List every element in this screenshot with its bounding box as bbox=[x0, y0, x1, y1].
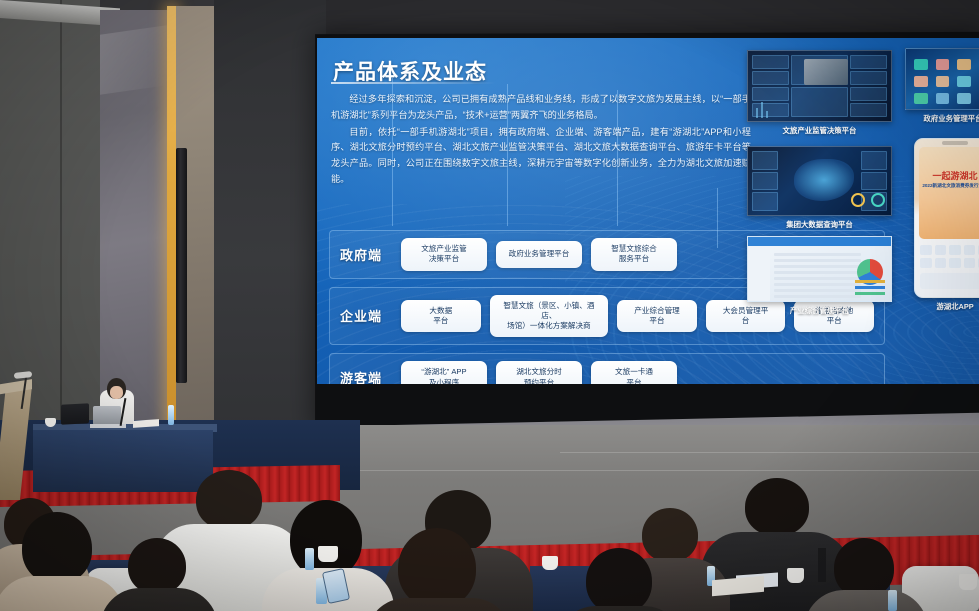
conference-room-photo: 产品体系及业态 经过多年探索和沉淀，公司已拥有成熟产品线和业务线，形成了以数字文… bbox=[0, 0, 979, 611]
wall-speaker-bar bbox=[176, 148, 187, 383]
thumbnail-caption: 政府业务管理平台 bbox=[905, 113, 979, 124]
audience-person bbox=[398, 528, 512, 611]
gold-light-strip bbox=[167, 6, 176, 430]
floor-seam bbox=[560, 452, 979, 453]
wall-panel-left bbox=[0, 0, 100, 430]
phone-promo-subline: 2022新湖北文旅消费券发行活动 bbox=[919, 183, 979, 189]
audience-person bbox=[834, 538, 928, 611]
thumbnail-industry-mgmt-platform: 产业综合管理平台 bbox=[747, 236, 892, 316]
projection-screen: 产品体系及业态 经过多年探索和沉淀，公司已拥有成熟产品线和业务线，形成了以数字文… bbox=[317, 38, 979, 384]
slide-paragraph-2: 目前，依托“一部手机游湖北”项目，拥有政府端、企业端、游客端产品，建有“游湖北”… bbox=[331, 125, 751, 188]
product-pill[interactable]: 文旅产业监管 决策平台 bbox=[401, 238, 487, 271]
thumbnail-image bbox=[905, 48, 979, 110]
thumbnail-gov-business-platform: 政府业务管理平台 bbox=[905, 48, 979, 124]
title-underline bbox=[331, 82, 496, 84]
head-table bbox=[33, 430, 213, 492]
audience-microphone-post bbox=[818, 548, 826, 582]
phone-promo-headline: 一起游湖北 bbox=[919, 169, 979, 182]
product-pill[interactable]: 湖北文旅分时 预约平台 bbox=[496, 361, 582, 384]
audience-person bbox=[128, 538, 218, 611]
wall-dark-panel bbox=[214, 0, 326, 432]
row-label-enterprise: 企业端 bbox=[340, 306, 392, 325]
thumbnail-mobile-app: 一起游湖北 2022新湖北文旅消费券发行活动 游湖北APP bbox=[907, 138, 979, 312]
product-pill[interactable]: 产业综合管理 平台 bbox=[617, 300, 697, 333]
thumbnail-caption: 文旅产业监管决策平台 bbox=[747, 125, 892, 136]
audience-teacup bbox=[318, 546, 338, 562]
category-row-tourist: 游客端 “游湖北” APP 及小程序 湖北文旅分时 预约平台 文旅一卡通 平台 bbox=[329, 353, 885, 384]
floor-seam bbox=[300, 470, 979, 471]
thumbnail-supervision-platform: 文旅产业监管决策平台 bbox=[747, 50, 892, 136]
thumbnail-caption: 集团大数据查询平台 bbox=[747, 219, 892, 230]
thumbnail-caption: 游湖北APP bbox=[907, 301, 979, 312]
row-label-tourist: 游客端 bbox=[340, 368, 392, 384]
row-label-government: 政府端 bbox=[340, 245, 392, 264]
thumbnail-image bbox=[747, 146, 892, 216]
thumbnail-image bbox=[747, 236, 892, 302]
product-pill[interactable]: 智慧文旅（景区、小镇、酒店、 场馆）一体化方案解决商 bbox=[490, 295, 609, 338]
audience-person bbox=[586, 548, 684, 611]
stage-water-bottle bbox=[168, 405, 174, 425]
connector-line bbox=[507, 84, 508, 226]
slide-paragraph-1: 经过多年探索和沉淀，公司已拥有成熟产品线和业务线，形成了以数字文旅为发展主线，以… bbox=[331, 92, 751, 124]
presenter-face bbox=[110, 386, 123, 399]
thumbnail-image bbox=[747, 50, 892, 122]
audience-teacup bbox=[542, 556, 558, 570]
product-pill[interactable]: 政府业务管理平台 bbox=[496, 241, 582, 268]
product-pill[interactable]: 大数据 平台 bbox=[401, 300, 481, 333]
slide-body-text: 经过多年探索和沉淀，公司已拥有成熟产品线和业务线，形成了以数字文旅为发展主线，以… bbox=[331, 92, 751, 189]
product-pill[interactable]: “游湖北” APP 及小程序 bbox=[401, 361, 487, 384]
platform-screenshot-gallery: 文旅产业监管决策平台 bbox=[747, 46, 979, 316]
marble-column bbox=[100, 10, 167, 430]
laptop-dark bbox=[61, 403, 89, 424]
audience-water-bottle bbox=[888, 590, 897, 611]
audience-water-bottle bbox=[305, 548, 314, 570]
thumbnail-caption: 产业综合管理平台 bbox=[747, 305, 892, 316]
thumbnail-image: 一起游湖北 2022新湖北文旅消费券发行活动 bbox=[914, 138, 979, 298]
thumbnail-bigdata-platform: 集团大数据查询平台 bbox=[747, 146, 892, 230]
product-pill[interactable]: 文旅一卡通 平台 bbox=[591, 361, 677, 384]
laptop-silver bbox=[93, 406, 121, 425]
audience-teacup bbox=[787, 568, 804, 583]
audience-person bbox=[22, 512, 124, 611]
audience-teacup bbox=[959, 574, 977, 590]
connector-line bbox=[392, 78, 393, 226]
product-pill[interactable]: 智慧文旅综合 服务平台 bbox=[591, 238, 677, 271]
connector-line bbox=[617, 90, 618, 226]
